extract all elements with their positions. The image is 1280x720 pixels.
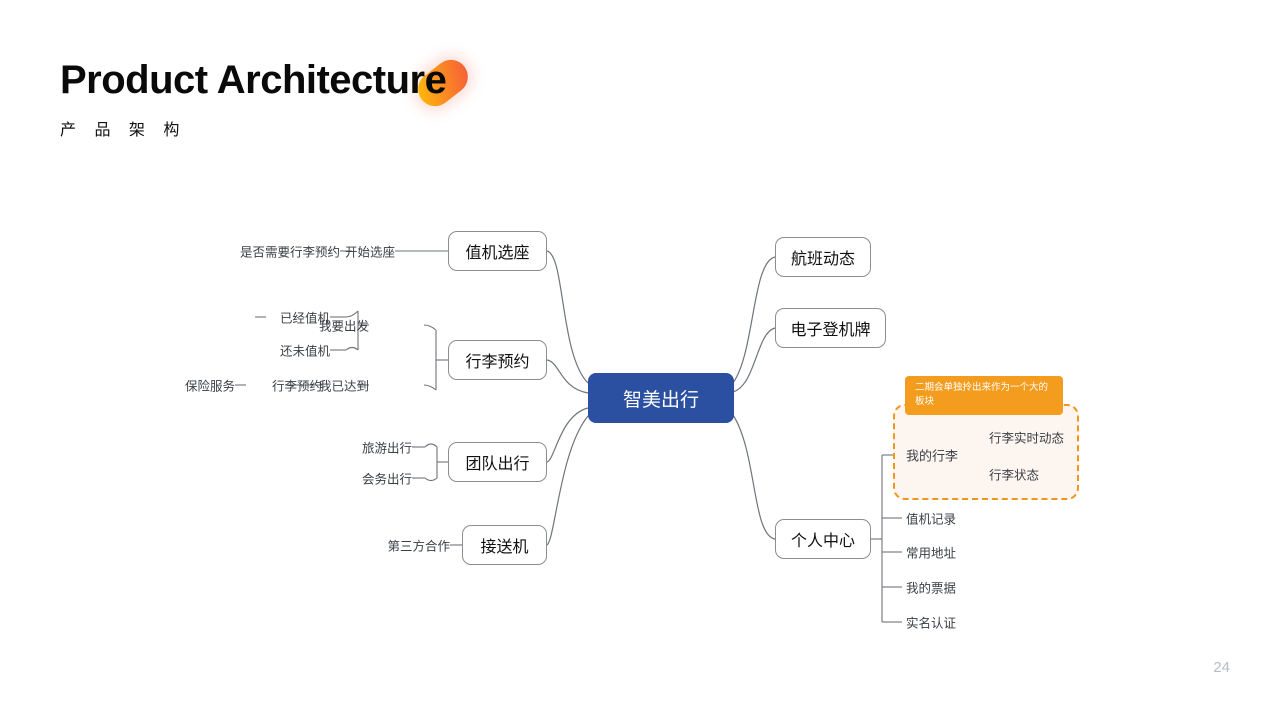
leaf-business-travel[interactable]: 会务出行 — [362, 469, 412, 488]
leaf-start-seat-selection[interactable]: 开始选座 — [345, 242, 395, 261]
leaf-label: 我的票据 — [906, 582, 956, 596]
leaf-label: 第三方合作 — [387, 540, 450, 554]
leaf-my-receipts[interactable]: 我的票据 — [906, 578, 956, 597]
leaf-label: 实名认证 — [906, 617, 956, 631]
leaf-insurance-service[interactable]: 保险服务 — [185, 376, 235, 395]
leaf-baggage-state[interactable]: 行李状态 — [989, 465, 1039, 484]
node-checkin-seat-label: 值机选座 — [465, 239, 529, 263]
leaf-label: 我的行李 — [906, 449, 958, 464]
leaf-label: 旅游出行 — [362, 442, 412, 456]
node-boarding-pass-label: 电子登机牌 — [790, 316, 870, 340]
node-transfer[interactable]: 接送机 — [462, 525, 547, 565]
leaf-label: 保险服务 — [185, 380, 235, 394]
leaf-label: 常用地址 — [906, 547, 956, 561]
node-flight-status[interactable]: 航班动态 — [775, 237, 871, 277]
title-row: Product Architecture — [60, 58, 446, 102]
node-root-label: 智美出行 — [623, 385, 699, 412]
leaf-i-have-arrived[interactable]: 我已达到 — [319, 376, 369, 395]
leaf-label: 我已达到 — [319, 380, 369, 394]
mindmap-connectors — [0, 0, 1280, 720]
leaf-my-baggage[interactable]: 我的行李 — [906, 446, 958, 465]
callout-banner: 二期会单独拎出来作为一个大的板块 — [905, 376, 1063, 415]
leaf-label: 开始选座 — [345, 246, 395, 260]
leaf-label: 值机记录 — [906, 513, 956, 527]
page-title: Product Architecture — [60, 58, 446, 102]
leaf-baggage-realtime-status[interactable]: 行李实时动态 — [989, 428, 1064, 447]
leaf-checkin-records[interactable]: 值机记录 — [906, 509, 956, 528]
node-personal-center[interactable]: 个人中心 — [775, 519, 871, 559]
leaf-label: 行李状态 — [989, 469, 1039, 483]
node-transfer-label: 接送机 — [480, 533, 528, 557]
leaf-frequent-addresses[interactable]: 常用地址 — [906, 543, 956, 562]
mindmap: 智美出行 值机选座 行李预约 团队出行 接送机 航班动态 电子登机牌 个人中心 … — [0, 0, 1280, 720]
node-checkin-seat[interactable]: 值机选座 — [448, 231, 547, 271]
leaf-not-checked-in[interactable]: 还未值机 — [280, 341, 330, 360]
node-baggage-booking-label: 行李预约 — [465, 348, 529, 372]
leaf-real-name-verification[interactable]: 实名认证 — [906, 613, 956, 632]
leaf-label: 行李预约 — [272, 380, 322, 394]
leaf-already-checked-in[interactable]: 已经值机 — [280, 308, 330, 327]
node-group-travel-label: 团队出行 — [465, 450, 529, 474]
leaf-need-baggage-booking[interactable]: 是否需要行李预约 — [240, 242, 340, 261]
node-personal-center-label: 个人中心 — [791, 527, 855, 551]
leaf-label: 会务出行 — [362, 473, 412, 487]
leaf-label: 已经值机 — [280, 312, 330, 326]
node-root[interactable]: 智美出行 — [588, 373, 734, 423]
leaf-baggage-booking-sub[interactable]: 行李预约 — [272, 376, 322, 395]
leaf-label: 行李实时动态 — [989, 432, 1064, 446]
node-baggage-booking[interactable]: 行李预约 — [448, 340, 547, 380]
leaf-third-party-cooperation[interactable]: 第三方合作 — [387, 536, 450, 555]
node-flight-status-label: 航班动态 — [791, 245, 855, 269]
callout-banner-text: 二期会单独拎出来作为一个大的板块 — [915, 382, 1048, 407]
leaf-label: 还未值机 — [280, 345, 330, 359]
leaf-tourism-travel[interactable]: 旅游出行 — [362, 438, 412, 457]
leaf-label: 是否需要行李预约 — [240, 246, 340, 260]
node-group-travel[interactable]: 团队出行 — [448, 442, 547, 482]
node-boarding-pass[interactable]: 电子登机牌 — [775, 308, 886, 348]
